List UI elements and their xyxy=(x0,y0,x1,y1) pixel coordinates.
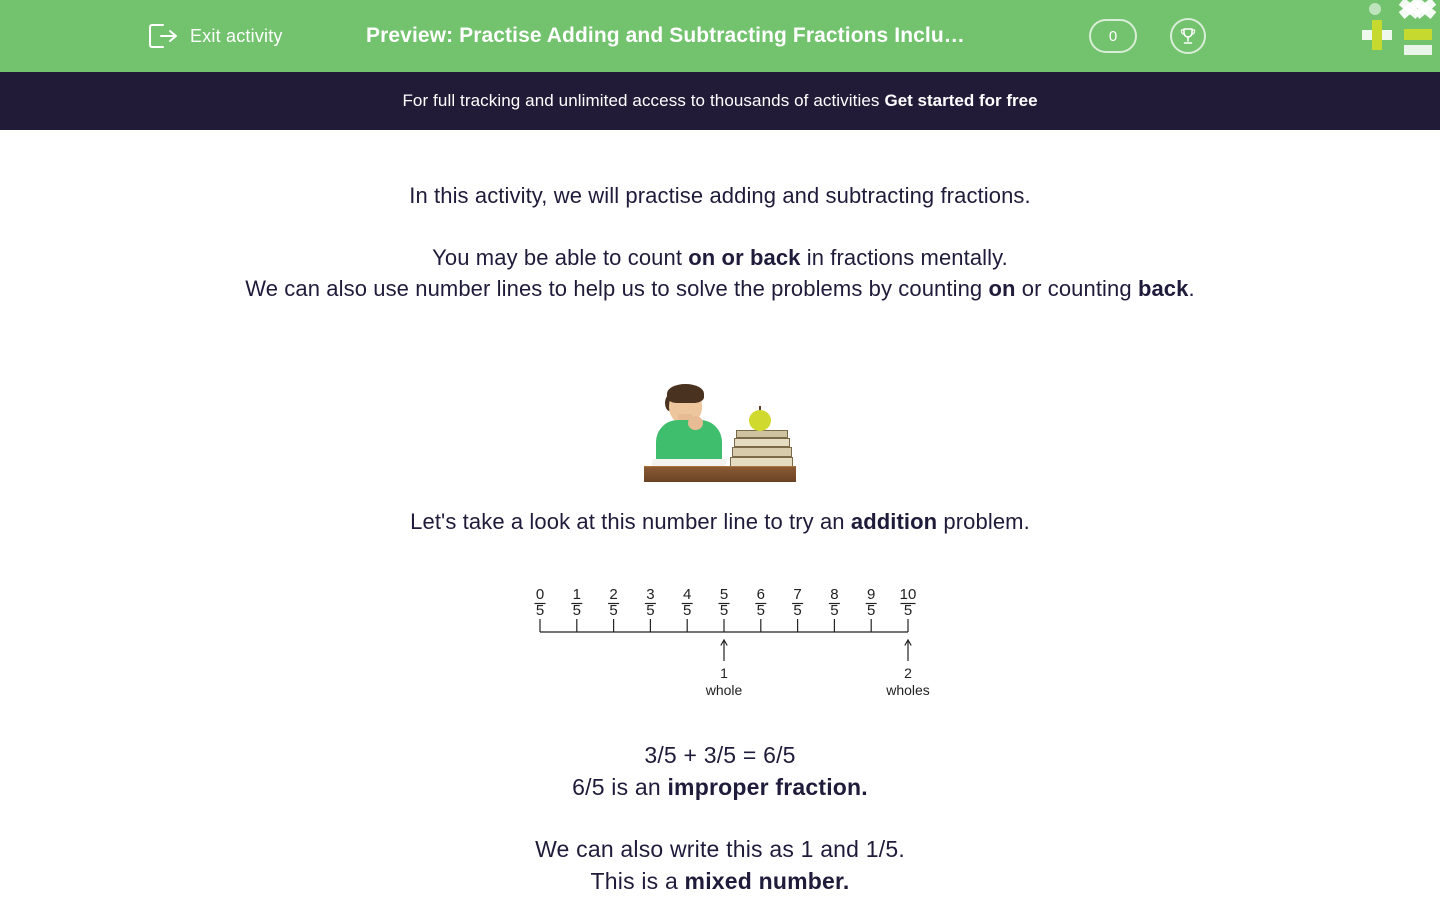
book-shape xyxy=(732,447,792,457)
improper-fraction-line: 6/5 is an improper fraction. xyxy=(0,771,1440,803)
numberline-help-post: . xyxy=(1188,276,1194,301)
trophy-icon xyxy=(1178,26,1198,46)
brand-logo xyxy=(1352,0,1440,58)
promo-text: For full tracking and unlimited access t… xyxy=(402,91,879,111)
exit-door-arrow-icon xyxy=(148,23,178,49)
tick-label-denominator: 5 xyxy=(793,602,801,619)
tick-label-numerator: 4 xyxy=(683,586,691,603)
numberline-help-on: on xyxy=(988,276,1015,301)
numberline-help-mid: or counting xyxy=(1016,276,1138,301)
activity-content: In this activity, we will practise addin… xyxy=(0,180,1440,897)
tick-label-numerator: 9 xyxy=(867,586,875,603)
mental-count-line: You may be able to count on or back in f… xyxy=(0,242,1440,273)
page-title: Preview: Practise Adding and Subtracting… xyxy=(366,24,980,48)
boy-thinking-at-desk-photo xyxy=(644,382,796,482)
exit-activity-label: Exit activity xyxy=(190,26,283,47)
equation-block: 3/5 + 3/5 = 6/5 6/5 is an improper fract… xyxy=(0,739,1440,803)
mixed-number-block: We can also write this as 1 and 1/5. Thi… xyxy=(0,833,1440,897)
mental-count-text-pre: You may be able to count xyxy=(432,245,688,270)
tick-label-denominator: 5 xyxy=(536,602,544,619)
numberline-help-back: back xyxy=(1138,276,1189,301)
app-header: Exit activity Preview: Practise Adding a… xyxy=(0,0,1440,72)
tick-label-numerator: 3 xyxy=(646,586,654,603)
intro-line: In this activity, we will practise addin… xyxy=(0,180,1440,211)
tick-label-denominator: 5 xyxy=(683,602,691,619)
improper-pre: 6/5 is an xyxy=(572,774,667,800)
get-started-link[interactable]: Get started for free xyxy=(885,91,1038,111)
tick-label-numerator: 5 xyxy=(720,586,728,603)
tick-label-denominator: 5 xyxy=(757,602,765,619)
tick-label-numerator: 6 xyxy=(757,586,765,603)
book-shape xyxy=(736,430,788,438)
numberline-diagram-wrap: 051525354555657585951051whole2wholes xyxy=(0,577,1440,702)
improper-emphasis: improper fraction. xyxy=(667,774,867,800)
mixed-number-write-line: We can also write this as 1 and 1/5. xyxy=(0,833,1440,865)
annotation-value: 1 xyxy=(720,665,728,681)
score-badge[interactable]: 0 xyxy=(1089,19,1137,53)
addition-intro-post: problem. xyxy=(937,509,1030,534)
tick-label-denominator: 5 xyxy=(646,602,654,619)
logo-equals-shape xyxy=(1404,45,1432,55)
numberline-help-line: We can also use number lines to help us … xyxy=(0,273,1440,304)
exit-activity-button[interactable]: Exit activity xyxy=(148,23,283,49)
number-line-svg: 051525354555657585951051whole2wholes xyxy=(510,577,930,702)
mixed-pre: This is a xyxy=(591,868,685,894)
promo-banner: For full tracking and unlimited access t… xyxy=(0,72,1440,130)
addition-intro-emphasis: addition xyxy=(851,509,937,534)
tick-label-numerator: 1 xyxy=(573,586,581,603)
mental-count-emphasis: on or back xyxy=(688,245,800,270)
annotation-unit: wholes xyxy=(885,682,930,698)
addition-intro-line: Let's take a look at this number line to… xyxy=(0,509,1440,535)
tick-label-denominator: 5 xyxy=(573,602,581,619)
annotation-value: 2 xyxy=(904,665,912,681)
annotation-unit: whole xyxy=(705,682,743,698)
mixed-emphasis: mixed number. xyxy=(685,868,850,894)
tick-label-denominator: 5 xyxy=(867,602,875,619)
trophy-button[interactable] xyxy=(1170,18,1206,54)
tick-label-numerator: 2 xyxy=(609,586,617,603)
score-value: 0 xyxy=(1109,28,1117,45)
mental-count-text-post: in fractions mentally. xyxy=(801,245,1008,270)
tick-label-denominator: 5 xyxy=(609,602,617,619)
mixed-number-line: This is a mixed number. xyxy=(0,865,1440,897)
tick-label-denominator: 5 xyxy=(720,602,728,619)
addition-intro-pre: Let's take a look at this number line to… xyxy=(410,509,851,534)
desk-shape xyxy=(644,467,796,482)
tick-label-numerator: 10 xyxy=(900,586,917,603)
illustration-wrap xyxy=(0,382,1440,482)
tick-label-numerator: 8 xyxy=(830,586,838,603)
numberline-help-pre: We can also use number lines to help us … xyxy=(245,276,988,301)
hand-shape xyxy=(688,416,703,430)
logo-plus-shape xyxy=(1372,20,1382,50)
paragraph-spacer xyxy=(0,211,1440,242)
logo-dot-shape xyxy=(1369,3,1381,15)
hair-shape xyxy=(667,384,704,403)
book-shape xyxy=(734,438,790,447)
tick-label-numerator: 0 xyxy=(536,586,544,603)
intro-block: In this activity, we will practise addin… xyxy=(0,180,1440,304)
logo-equals-shape xyxy=(1404,29,1432,40)
addition-equation: 3/5 + 3/5 = 6/5 xyxy=(0,739,1440,771)
tick-label-numerator: 7 xyxy=(793,586,801,603)
apple-shape xyxy=(749,410,771,431)
tick-label-denominator: 5 xyxy=(904,602,912,619)
tick-label-denominator: 5 xyxy=(830,602,838,619)
fraction-number-line-diagram: 051525354555657585951051whole2wholes xyxy=(510,577,930,702)
